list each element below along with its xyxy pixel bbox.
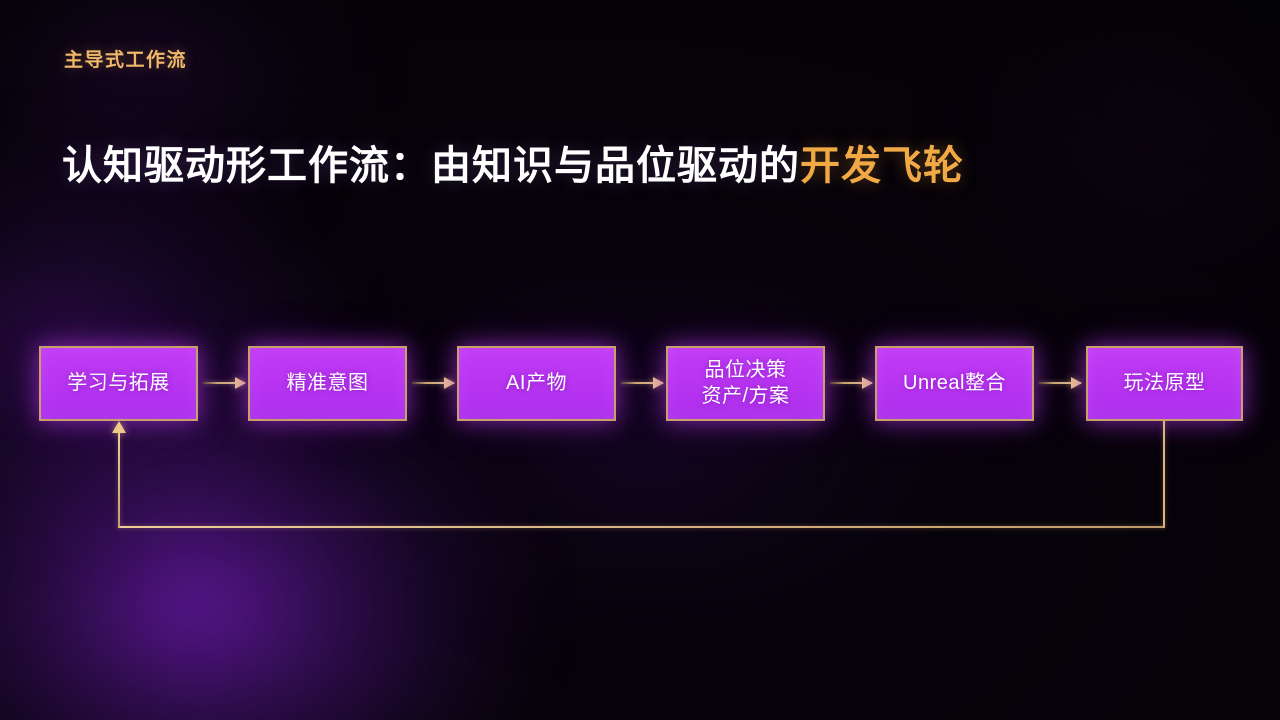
feedback-loop-segment-up (118, 433, 120, 528)
flow-connector-2-to-3 (412, 382, 454, 384)
flow-connector-4-to-5 (830, 382, 872, 384)
flow-connector-3-to-4 (621, 382, 663, 384)
flow-node-label-line2: 资产/方案 (701, 384, 789, 410)
feedback-loop-segment-left (118, 526, 1165, 528)
flow-node-label-line1: 品位决策 (705, 358, 787, 384)
feedback-loop-segment-down (1163, 421, 1165, 528)
flow-node-label: AI产物 (506, 371, 567, 397)
slide-canvas: 主导式工作流 认知驱动形工作流：由知识与品位驱动的开发飞轮 学习与拓展 精准意图… (0, 0, 1280, 720)
flow-node-unreal-integration[interactable]: Unreal整合 (875, 346, 1034, 421)
flow-node-gameplay-prototype[interactable]: 玩法原型 (1086, 346, 1243, 421)
workflow-diagram: 学习与拓展 精准意图 AI产物 品位决策 资产/方案 Unreal整合 (0, 0, 1280, 720)
flow-node-label: 玩法原型 (1124, 371, 1206, 397)
flow-node-label: 学习与拓展 (67, 371, 170, 397)
flow-node-ai-output[interactable]: AI产物 (457, 346, 616, 421)
flow-node-taste-decision-assets[interactable]: 品位决策 资产/方案 (666, 346, 825, 421)
feedback-loop-arrowhead-icon (112, 421, 126, 433)
flow-node-label: Unreal整合 (903, 371, 1006, 397)
flow-node-label: 精准意图 (287, 371, 369, 397)
flow-connector-1-to-2 (203, 382, 245, 384)
flow-node-precise-intent[interactable]: 精准意图 (248, 346, 407, 421)
flow-connector-5-to-6 (1039, 382, 1081, 384)
flow-node-learning-expansion[interactable]: 学习与拓展 (39, 346, 198, 421)
